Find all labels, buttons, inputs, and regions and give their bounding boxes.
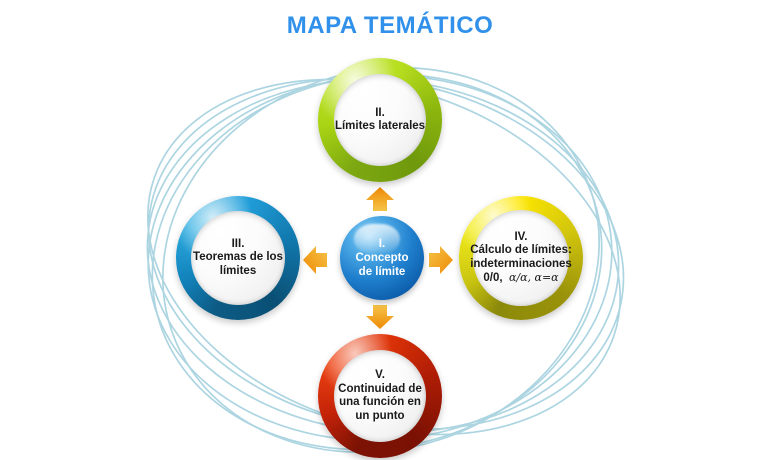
- node-bottom-line1: Continuidad de: [338, 383, 422, 397]
- node-limites-laterales[interactable]: II. Límites laterales: [318, 58, 442, 182]
- node-calculo-de-limites[interactable]: IV. Cálculo de límites: indeterminacione…: [459, 196, 583, 320]
- node-left-label: III. Teoremas de los límites: [187, 238, 289, 279]
- node-bottom-inner: V. Continuidad de una función en un punt…: [334, 350, 426, 442]
- node-bottom-line2: una función en: [338, 396, 422, 410]
- node-concepto-de-limite[interactable]: I. Concepto de límite: [340, 216, 424, 300]
- page-title: MAPA TEMÁTICO: [0, 12, 780, 40]
- node-bottom-label: V. Continuidad de una función en un punt…: [332, 369, 428, 423]
- node-bottom-line3: un punto: [338, 410, 422, 424]
- node-continuidad[interactable]: V. Continuidad de una función en un punt…: [318, 334, 442, 458]
- node-right-inner: IV. Cálculo de límites: indeterminacione…: [473, 210, 569, 306]
- node-top-numeral: II.: [335, 107, 425, 121]
- node-left-numeral: III.: [193, 238, 283, 252]
- arrow-down-icon: [363, 304, 397, 330]
- arrow-up-icon: [363, 186, 397, 212]
- node-right-line2: indeterminaciones: [470, 258, 572, 272]
- node-top-line1: Límites laterales: [335, 120, 425, 134]
- node-right-line3: 0/0, α/α, α=α: [470, 271, 572, 286]
- node-center-numeral: I.: [355, 237, 408, 251]
- node-teoremas[interactable]: III. Teoremas de los límites: [176, 196, 300, 320]
- node-center-label: I. Concepto de límite: [349, 237, 414, 279]
- node-center-line1: Concepto: [355, 251, 408, 265]
- node-right-alpha-expressions: α/α, α=α: [509, 271, 559, 284]
- node-right-label: IV. Cálculo de límites: indeterminacione…: [464, 231, 578, 286]
- arrow-right-icon: [428, 243, 454, 277]
- node-bottom-numeral: V.: [338, 369, 422, 383]
- diagram-canvas: MAPA TEMÁTICO: [0, 0, 780, 460]
- node-top-label: II. Límites laterales: [329, 107, 431, 134]
- node-top-inner: II. Límites laterales: [334, 74, 426, 166]
- node-right-frac-zero: 0/0,: [483, 272, 502, 284]
- node-left-line1: Teoremas de los: [193, 251, 283, 265]
- node-right-line1: Cálculo de límites:: [470, 244, 572, 258]
- arrow-left-icon: [302, 243, 328, 277]
- node-left-line2: límites: [193, 265, 283, 279]
- node-center-line2: de límite: [355, 265, 408, 279]
- node-left-inner: III. Teoremas de los límites: [191, 211, 285, 305]
- node-right-numeral: IV.: [470, 231, 572, 245]
